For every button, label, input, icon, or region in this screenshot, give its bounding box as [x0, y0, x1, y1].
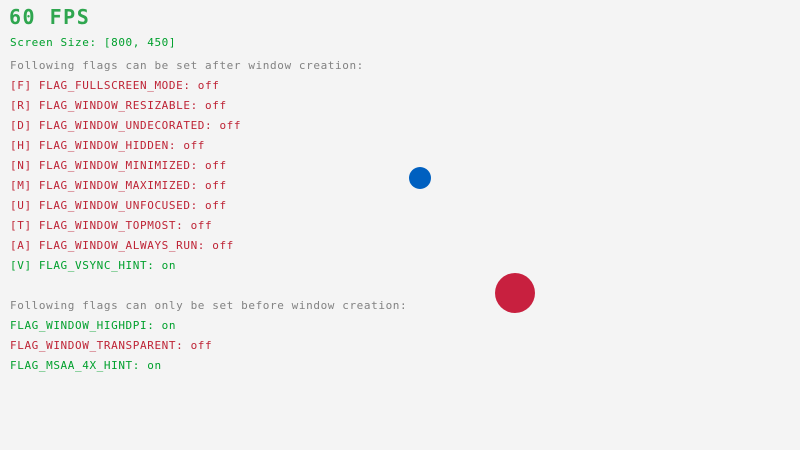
screen-size-label: Screen Size: [800, 450]: [10, 37, 176, 49]
creation-flags-header: Following flags can only be set before w…: [10, 300, 407, 312]
red-ball: [495, 273, 535, 313]
runtime-flag-row-2[interactable]: [D] FLAG_WINDOW_UNDECORATED: off: [10, 120, 241, 132]
creation-flag-row-2[interactable]: FLAG_MSAA_4X_HINT: on: [10, 360, 162, 372]
runtime-flag-row-6[interactable]: [U] FLAG_WINDOW_UNFOCUSED: off: [10, 200, 227, 212]
runtime-flags-header: Following flags can be set after window …: [10, 60, 364, 72]
runtime-flag-row-4[interactable]: [N] FLAG_WINDOW_MINIMIZED: off: [10, 160, 227, 172]
fps-counter: 60 FPS: [9, 7, 90, 27]
runtime-flag-row-1[interactable]: [R] FLAG_WINDOW_RESIZABLE: off: [10, 100, 227, 112]
raylib-window-canvas: 60 FPS Screen Size: [800, 450] Following…: [0, 0, 800, 450]
blue-ball: [409, 167, 431, 189]
runtime-flag-row-0[interactable]: [F] FLAG_FULLSCREEN_MODE: off: [10, 80, 219, 92]
runtime-flag-row-3[interactable]: [H] FLAG_WINDOW_HIDDEN: off: [10, 140, 205, 152]
runtime-flag-row-7[interactable]: [T] FLAG_WINDOW_TOPMOST: off: [10, 220, 212, 232]
creation-flag-row-0[interactable]: FLAG_WINDOW_HIGHDPI: on: [10, 320, 176, 332]
runtime-flag-row-5[interactable]: [M] FLAG_WINDOW_MAXIMIZED: off: [10, 180, 227, 192]
runtime-flag-row-9[interactable]: [V] FLAG_VSYNC_HINT: on: [10, 260, 176, 272]
runtime-flag-row-8[interactable]: [A] FLAG_WINDOW_ALWAYS_RUN: off: [10, 240, 234, 252]
creation-flag-row-1[interactable]: FLAG_WINDOW_TRANSPARENT: off: [10, 340, 212, 352]
